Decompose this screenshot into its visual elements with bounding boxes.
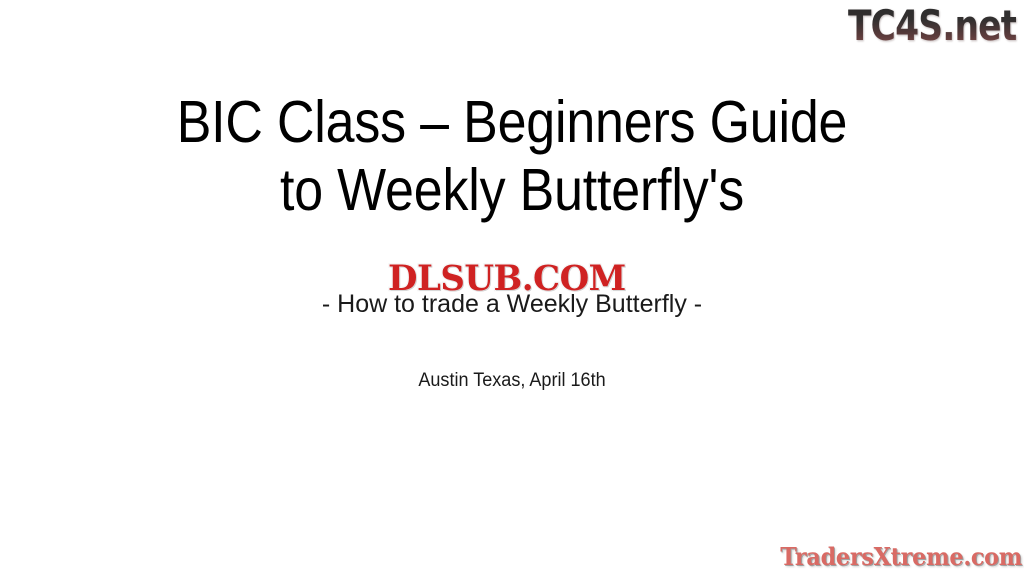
tc4s-brand-logo: TC4S.net bbox=[848, 2, 1016, 50]
tradersxtreme-watermark: TradersXtreme.com bbox=[780, 542, 1022, 572]
slide-title: BIC Class – Beginners Guide to Weekly Bu… bbox=[0, 88, 1024, 224]
title-line-2: to Weekly Butterfly's bbox=[61, 156, 962, 224]
slide-location-date: Austin Texas, April 16th bbox=[26, 369, 999, 393]
dlsub-watermark: DLSUB.COM bbox=[374, 258, 640, 300]
title-line-1: BIC Class – Beginners Guide bbox=[61, 88, 962, 156]
presentation-slide: TC4S.net BIC Class – Beginners Guide to … bbox=[0, 0, 1024, 576]
